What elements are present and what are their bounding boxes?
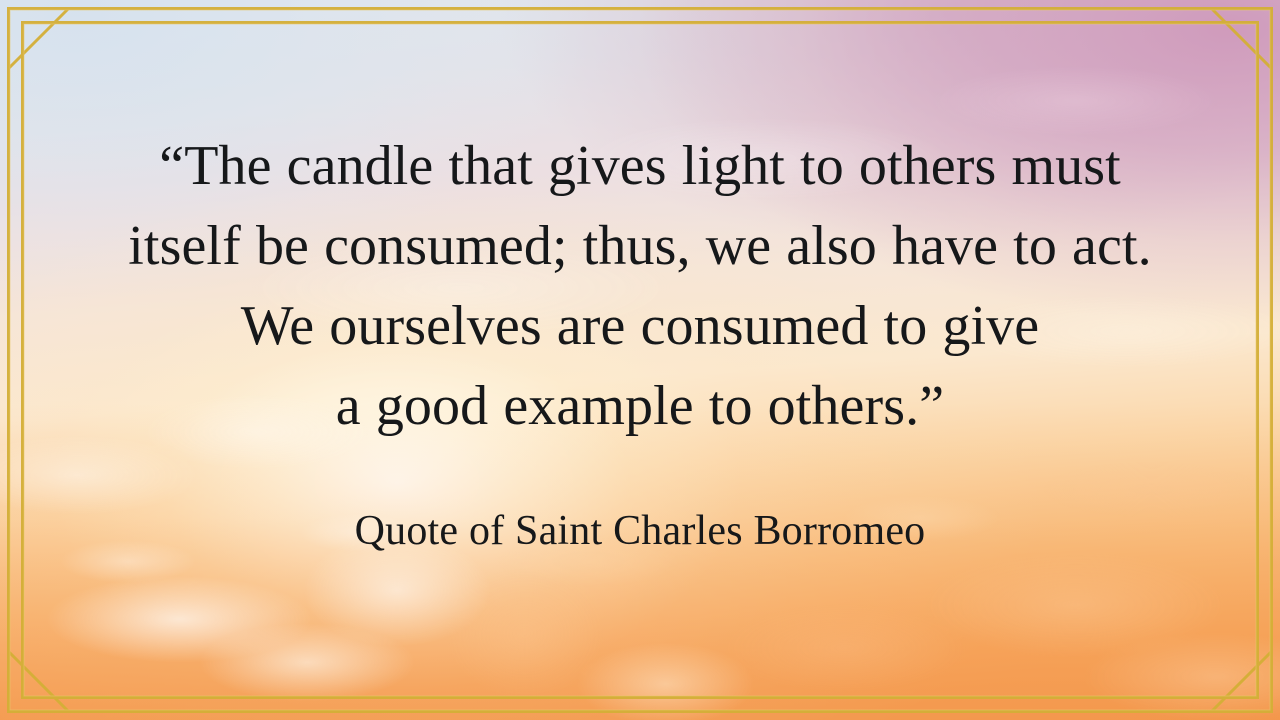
quote-content: “The candle that gives light to others m… — [0, 0, 1280, 720]
quote-text: “The candle that gives light to others m… — [45, 126, 1235, 446]
quote-line-1: “The candle that gives light to others m… — [45, 126, 1235, 206]
quote-attribution: Quote of Saint Charles Borromeo — [355, 503, 926, 559]
quote-line-2: itself be consumed; thus, we also have t… — [45, 206, 1235, 286]
quote-line-4: a good example to others.” — [45, 366, 1235, 446]
quote-card: “The candle that gives light to others m… — [0, 0, 1280, 720]
quote-line-3: We ourselves are consumed to give — [45, 286, 1235, 366]
